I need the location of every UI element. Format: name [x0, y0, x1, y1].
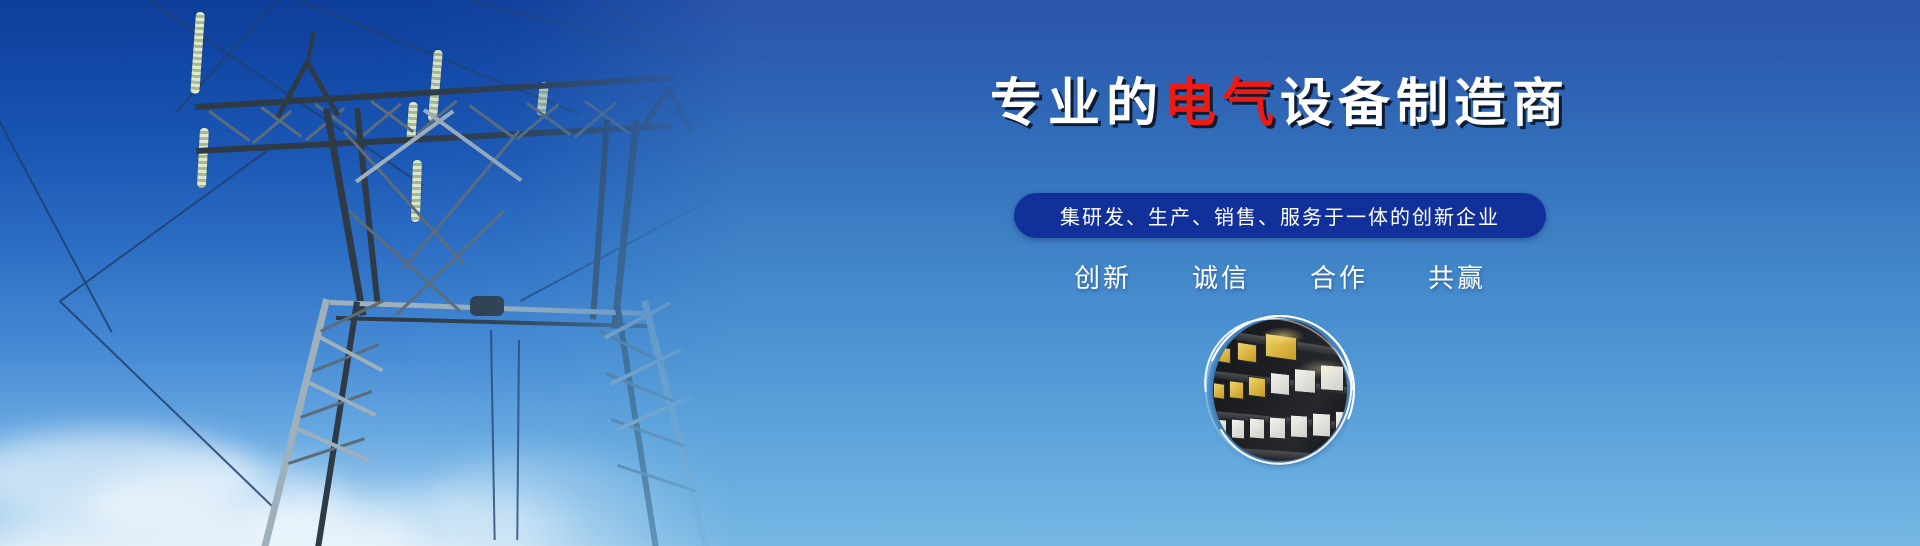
headline-suffix: 设备制造商	[1280, 75, 1570, 133]
headline-highlight: 电气	[1164, 75, 1280, 133]
keyword-item: 合作	[1310, 258, 1368, 295]
keyword-item: 共赢	[1428, 258, 1486, 295]
certificate-wall-image	[1213, 319, 1347, 461]
tagline-text: 集研发、生产、销售、服务于一体的创新企业	[1060, 207, 1500, 229]
circle-photo-certificate-wall[interactable]	[1205, 315, 1355, 465]
hero-banner: 专业的电气设备制造商 集研发、生产、销售、服务于一体的创新企业 创新 诚信 合作…	[0, 0, 1920, 546]
banner-content: 专业的电气设备制造商 集研发、生产、销售、服务于一体的创新企业 创新 诚信 合作…	[640, 0, 1920, 546]
headline-prefix: 专业的	[990, 75, 1164, 133]
keyword-item: 创新	[1074, 258, 1132, 295]
keyword-item: 诚信	[1192, 258, 1250, 295]
page-title: 专业的电气设备制造商	[640, 78, 1920, 130]
keyword-list: 创新 诚信 合作 共赢	[640, 258, 1920, 295]
tagline-pill: 集研发、生产、销售、服务于一体的创新企业	[1014, 193, 1546, 238]
